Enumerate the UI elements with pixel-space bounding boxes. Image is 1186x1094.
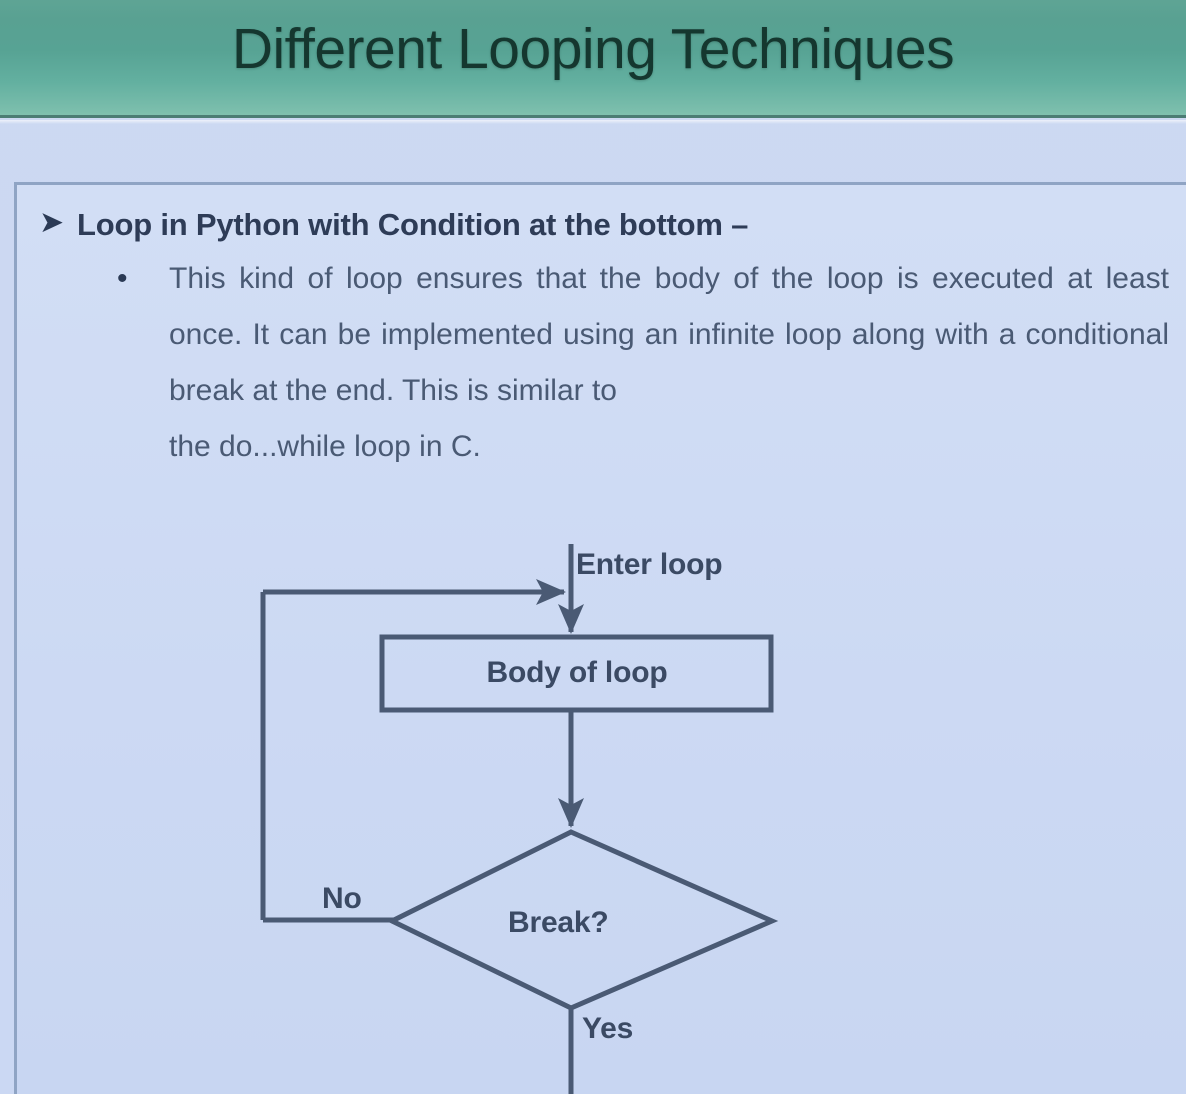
title-banner: Different Looping Techniques xyxy=(0,0,1186,118)
content-box: ➤ Loop in Python with Condition at the b… xyxy=(14,182,1186,1094)
slide: Different Looping Techniques ➤ Loop in P… xyxy=(0,0,1186,1094)
flowchart-label-body-of-loop: Body of loop xyxy=(382,656,772,690)
arrow-bullet-icon: ➤ xyxy=(35,203,77,243)
bullet-item-level1: ➤ Loop in Python with Condition at the b… xyxy=(35,203,1165,247)
content-inner: ➤ Loop in Python with Condition at the b… xyxy=(17,185,1186,1094)
flowchart-label-break: Break? xyxy=(508,906,609,940)
bullet-level2-last-line: the do...while loop in C. xyxy=(169,419,1169,475)
banner-underline xyxy=(0,120,1186,124)
flowchart-label-yes: Yes xyxy=(582,1012,633,1046)
page-title: Different Looping Techniques xyxy=(0,16,1186,82)
flowchart-label-no: No xyxy=(322,882,362,916)
dot-bullet-icon: • xyxy=(103,251,169,307)
bullet-item-level2: • This kind of loop ensures that the bod… xyxy=(103,251,1185,475)
bullet-level2-main-text: This kind of loop ensures that the body … xyxy=(169,262,1169,407)
bullet-level2-label: This kind of loop ensures that the body … xyxy=(169,251,1169,475)
bullet-level1-label: Loop in Python with Condition at the bot… xyxy=(77,203,748,247)
flowchart-label-enter-loop: Enter loop xyxy=(576,548,722,582)
